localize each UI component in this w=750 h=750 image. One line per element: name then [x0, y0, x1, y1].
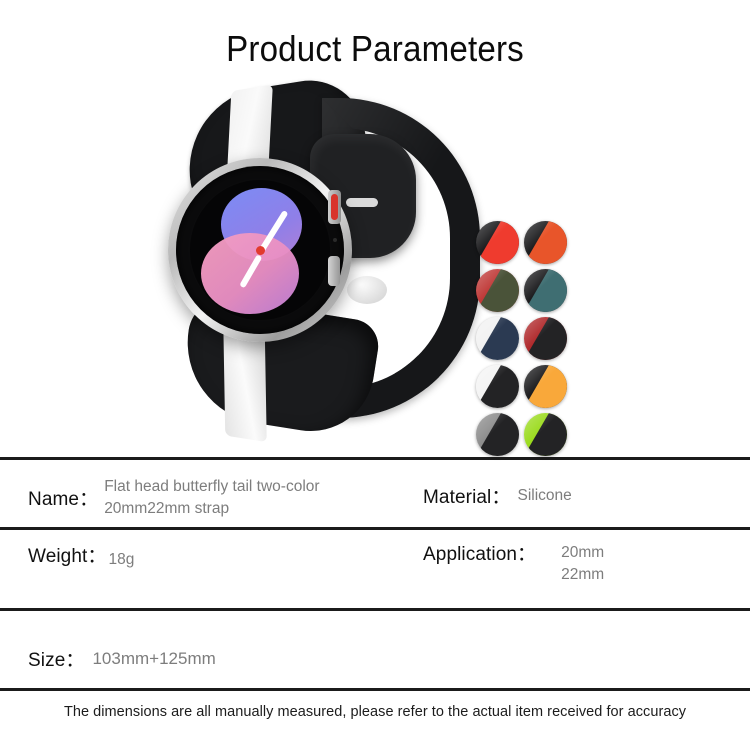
swatch-row [476, 221, 568, 264]
spec-value-application: 20mm 22mm [536, 539, 604, 586]
spec-label-material: Material： [423, 482, 510, 509]
watch-crown-red-accent [331, 194, 338, 220]
spec-value-size: 103mm+125mm [84, 645, 215, 671]
color-swatch-black-teal[interactable] [524, 269, 567, 312]
color-swatch-black-amber[interactable] [524, 365, 567, 408]
spec-label-application: Application： [423, 539, 536, 566]
watch-case [168, 158, 352, 342]
swatch-row [476, 413, 568, 456]
spec-value-weight: 18g [107, 541, 135, 571]
swatch-row [476, 269, 568, 312]
microphone-hole-icon [333, 238, 337, 242]
product-parameters-page: Product Parameters [0, 0, 750, 750]
disclaimer-text: The dimensions are all manually measured… [0, 704, 750, 720]
color-swatch-white-black[interactable] [476, 365, 519, 408]
clasp-slot [346, 198, 378, 207]
spec-value-application-line1: 20mm [561, 544, 604, 561]
spec-row-material: Material： Silicone [423, 482, 572, 509]
color-swatch-grid [476, 221, 568, 461]
table-divider [0, 608, 750, 611]
spec-row-application: Application： 20mm 22mm [423, 539, 604, 586]
spec-row-weight: Weight： 18g [28, 541, 134, 571]
watch-bezel [176, 166, 344, 334]
spec-row-name: Name： Flat head butterfly tail two-color… [28, 476, 374, 520]
dial-center-pin [256, 246, 265, 255]
spec-label-name: Name： [28, 476, 98, 511]
product-hero-image [0, 80, 750, 450]
watch-product-photo [150, 80, 480, 440]
color-swatch-darkred-black[interactable] [524, 317, 567, 360]
swatch-row [476, 317, 568, 360]
spec-value-application-line2: 22mm [561, 566, 604, 583]
second-hand [190, 180, 191, 236]
color-swatch-gray-black[interactable] [476, 413, 519, 456]
spec-label-weight: Weight： [28, 541, 107, 568]
spec-row-size: Size： 103mm+125mm [28, 645, 216, 672]
color-swatch-white-navy[interactable] [476, 317, 519, 360]
table-divider [0, 457, 750, 460]
spec-label-size: Size： [28, 645, 84, 672]
spec-value-name: Flat head butterfly tail two-color 20mm2… [98, 476, 374, 520]
color-swatch-black-orange[interactable] [524, 221, 567, 264]
watch-dial [190, 180, 330, 320]
table-divider [0, 527, 750, 530]
swatch-row [476, 365, 568, 408]
color-swatch-lime-black[interactable] [524, 413, 567, 456]
spec-value-material: Silicone [510, 482, 571, 507]
color-swatch-black-red[interactable] [476, 221, 519, 264]
watch-side-button [328, 256, 340, 286]
table-divider [0, 688, 750, 691]
color-swatch-red-olive[interactable] [476, 269, 519, 312]
clasp-release-button [347, 276, 387, 304]
page-title: Product Parameters [30, 28, 720, 70]
